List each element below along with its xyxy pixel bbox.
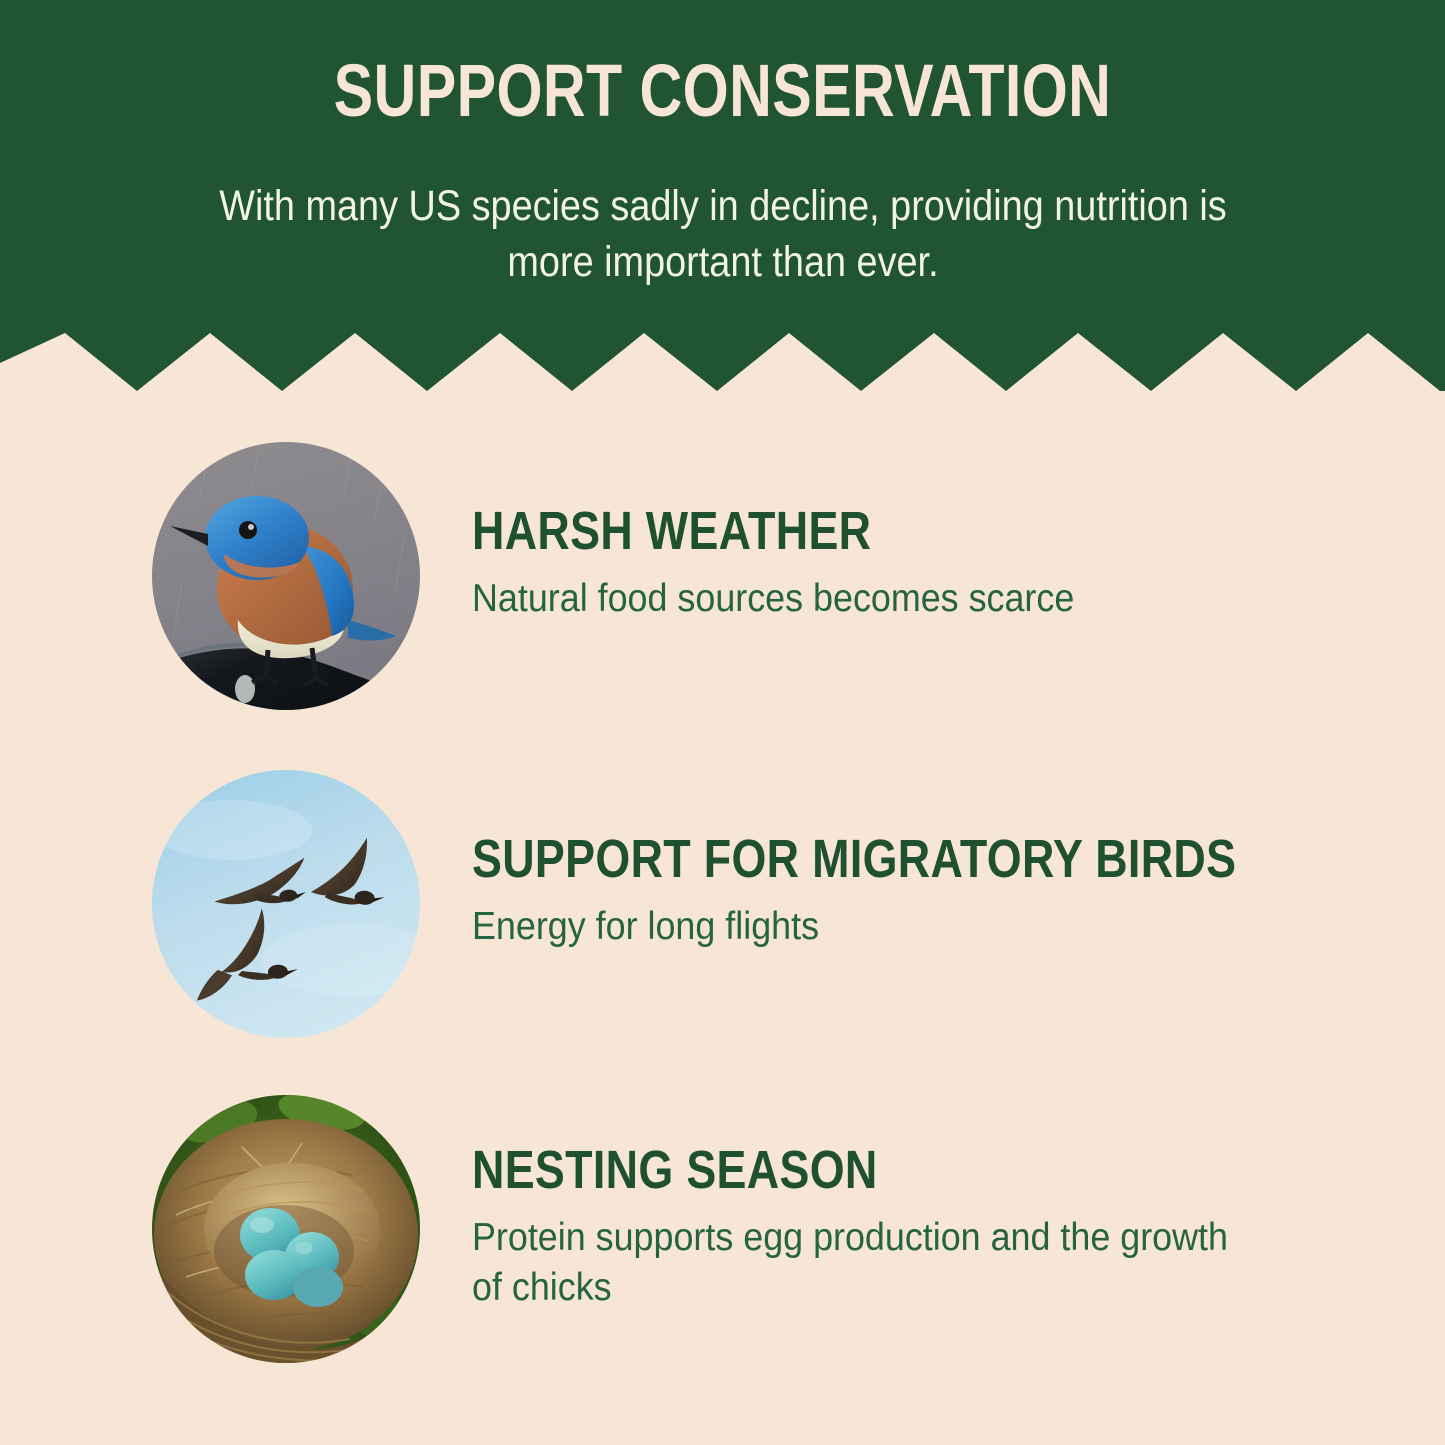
card-title: SUPPORT FOR MIGRATORY BIRDS: [472, 830, 1219, 888]
card-description: Protein supports egg production and the …: [472, 1213, 1236, 1313]
card-title: NESTING SEASON: [472, 1141, 1219, 1199]
bird-nest-with-blue-eggs-photo: [152, 1095, 420, 1363]
infographic-page: SUPPORT CONSERVATION With many US specie…: [0, 0, 1445, 1445]
page-title: SUPPORT CONSERVATION: [145, 52, 1301, 130]
card-thumbnail-nesting-season: [152, 1095, 420, 1363]
card-description: Natural food sources becomes scarce: [472, 574, 1236, 624]
benefits-list: HARSH WEATHER Natural food sources becom…: [0, 391, 1445, 1445]
card-text-nesting-season: NESTING SEASON Protein supports egg prod…: [472, 1141, 1372, 1313]
bluebird-perched-on-wet-branch-photo: [152, 442, 420, 710]
card-text-migratory-birds: SUPPORT FOR MIGRATORY BIRDS Energy for l…: [472, 830, 1372, 952]
three-birds-flying-in-blue-sky-photo: [152, 770, 420, 1038]
card-description: Energy for long flights: [472, 902, 1236, 952]
card-text-harsh-weather: HARSH WEATHER Natural food sources becom…: [472, 502, 1372, 624]
card-thumbnail-harsh-weather: [152, 442, 420, 710]
card-title: HARSH WEATHER: [472, 502, 1219, 560]
page-subtitle: With many US species sadly in decline, p…: [190, 178, 1255, 290]
zigzag-divider: [0, 333, 1445, 391]
card-thumbnail-migratory-birds: [152, 770, 420, 1038]
header-banner: SUPPORT CONSERVATION With many US specie…: [0, 0, 1445, 333]
